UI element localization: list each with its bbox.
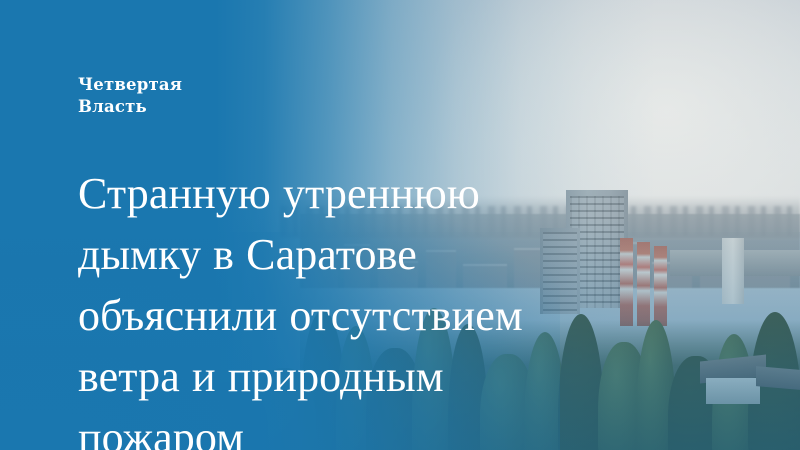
site-logo[interactable]: Четвертая Власть [78, 74, 182, 118]
headline-line: пожаром [78, 407, 678, 450]
article-headline[interactable]: Странную утреннююдымку в Саратовеобъясни… [78, 163, 678, 450]
headline-line: объяснили отсутствием [78, 285, 678, 346]
article-share-card: Четвертая Власть Странную утреннююдымку … [0, 0, 800, 450]
headline-line: ветра и природным [78, 346, 678, 407]
headline-line: Странную утреннюю [78, 163, 678, 224]
card-content: Четвертая Власть Странную утреннююдымку … [0, 0, 800, 450]
headline-line: дымку в Саратове [78, 224, 678, 285]
